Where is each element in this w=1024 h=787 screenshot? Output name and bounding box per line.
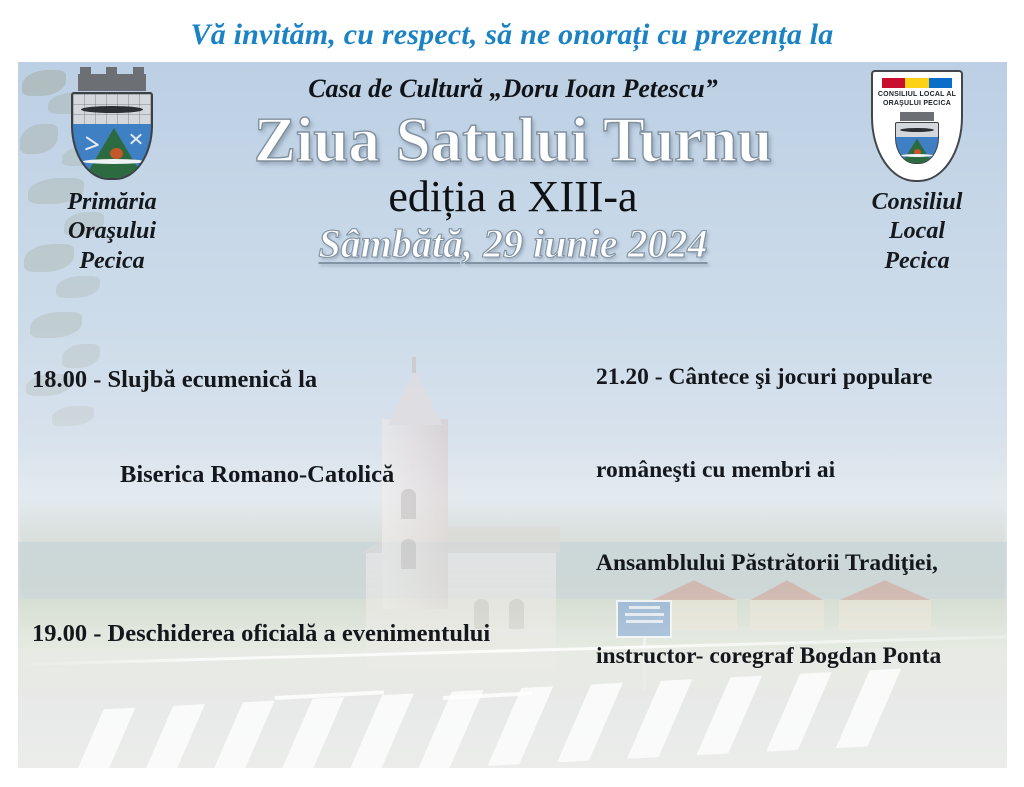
- schedule-item: 21.20 - Cântece şi jocuri populare român…: [596, 300, 1007, 734]
- schedule-line: instructor- coregraf Bogdan Ponta: [596, 641, 1007, 672]
- page-title: Ziua Satului Turnu: [193, 108, 833, 172]
- schedule-line: Biserica Romano-Catolică: [32, 459, 578, 491]
- schedule-line: româneşti cu membri ai: [596, 455, 1007, 486]
- title-block: Casa de Cultură „Doru Ioan Petescu” Ziua…: [193, 74, 833, 266]
- consiliul-emblem-block: CONSILIUL LOCAL AL ORAŞULUI PECICA Consi…: [837, 70, 997, 276]
- primaria-emblem-block: Primăria Oraşului Pecica: [32, 74, 192, 276]
- schedule-line: 18.00 - Slujbă ecumenică la: [32, 364, 578, 396]
- consiliul-badge-line2: ORAŞULUI PECICA: [877, 100, 957, 109]
- consiliul-caption-line2: Local: [837, 217, 997, 246]
- consiliul-caption: Consiliul Local Pecica: [837, 188, 997, 276]
- schedule-item: 21.50 - Muzică uşoară cu Andrada Ardelea…: [596, 734, 1007, 768]
- schedule-line: Ansamblului Păstrătorii Tradiţiei,: [596, 548, 1007, 579]
- invitation-headline: Vă invităm, cu respect, să ne onorați cu…: [0, 18, 1024, 52]
- consiliul-caption-line1: Consiliul: [837, 188, 997, 217]
- primaria-caption-line2: Oraşului: [32, 217, 192, 246]
- programme-schedule: 18.00 - Slujbă ecumenică la Biserica Rom…: [18, 300, 1007, 768]
- consiliul-local-pecica-emblem-icon: CONSILIUL LOCAL AL ORAŞULUI PECICA: [871, 70, 963, 182]
- schedule-item: 18.00 - Slujbă ecumenică la Biserica Rom…: [32, 300, 578, 555]
- programme-right-column: 21.20 - Cântece şi jocuri populare român…: [578, 300, 1007, 768]
- edition-label: ediția a XIII-a: [193, 174, 833, 220]
- poster-panel: Primăria Oraşului Pecica CONSILIUL LOCAL…: [18, 62, 1007, 768]
- schedule-line: 21.20 - Cântece şi jocuri populare: [596, 362, 1007, 393]
- pecica-coat-of-arms-icon: [65, 74, 159, 182]
- event-date: Sâmbătă, 29 iunie 2024: [193, 222, 833, 266]
- venue-name: Casa de Cultură „Doru Ioan Petescu”: [193, 74, 833, 104]
- consiliul-caption-line3: Pecica: [837, 247, 997, 276]
- primaria-caption-line1: Primăria: [32, 188, 192, 217]
- schedule-line: 19.00 - Deschiderea oficială a eveniment…: [32, 618, 578, 650]
- primaria-caption: Primăria Oraşului Pecica: [32, 188, 192, 276]
- primaria-caption-line3: Pecica: [32, 247, 192, 276]
- schedule-item: 19.15 - Moment artistic realizat de copi…: [32, 714, 578, 768]
- programme-left-column: 18.00 - Slujbă ecumenică la Biserica Rom…: [18, 300, 578, 768]
- consiliul-badge-line1: CONSILIUL LOCAL AL: [877, 91, 957, 100]
- romanian-tricolor-bar: [882, 78, 952, 88]
- schedule-item: 19.00 - Deschiderea oficială a eveniment…: [32, 555, 578, 714]
